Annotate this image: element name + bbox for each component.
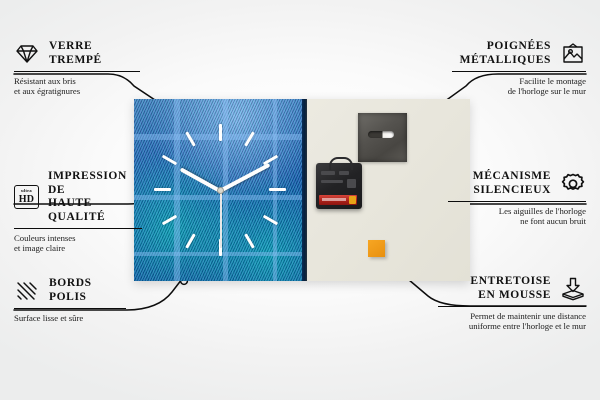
divider <box>448 201 586 202</box>
hour-tick <box>154 188 171 191</box>
callout-desc: Permet de maintenir une distance uniform… <box>438 311 586 332</box>
callout-title: ENTRETOISE EN MOUSSE <box>470 275 551 302</box>
callout-title: MÉCANISME SILENCIEUX <box>473 170 551 197</box>
callout-verre-trempe: VERRE TREMPÉ Résistant aux bris et aux é… <box>14 40 140 97</box>
metal-hanger-plate <box>358 113 407 162</box>
callout-desc: Couleurs intenses et image claire <box>14 233 142 254</box>
callout-bords-polis: BORDS POLIS Surface lisse et sûre <box>14 277 126 323</box>
callout-impression-haute-qualite: ultra HD IMPRESSION DE HAUTE QUALITÉ Cou… <box>14 170 142 254</box>
callout-title: VERRE TREMPÉ <box>49 40 102 67</box>
callout-title: IMPRESSION DE HAUTE QUALITÉ <box>48 170 142 224</box>
hour-tick <box>244 233 255 248</box>
callout-desc: Résistant aux bris et aux égratignures <box>14 76 140 97</box>
quartz-movement <box>316 163 362 209</box>
battery-terminal <box>349 196 356 204</box>
movement-detail <box>321 171 335 175</box>
hanger-slot <box>368 131 394 138</box>
clock-back-panel <box>307 99 470 281</box>
hand-cap <box>217 187 224 194</box>
hour-tick <box>269 188 286 191</box>
callout-title: BORDS POLIS <box>49 277 92 304</box>
clock-face <box>134 99 306 281</box>
hour-tick <box>219 124 222 141</box>
movement-hanger-loop <box>329 157 353 170</box>
divider <box>452 71 586 72</box>
arrow-down-pad-icon <box>560 277 586 301</box>
diamond-icon <box>14 43 40 65</box>
hour-tick <box>185 233 196 248</box>
callout-entretoise-en-mousse: ENTRETOISE EN MOUSSE Permet de maintenir… <box>438 275 586 332</box>
callout-desc: Facilite le montage de l'horloge sur le … <box>452 76 586 97</box>
callout-mecanisme-silencieux: MÉCANISME SILENCIEUX Les aiguilles de l'… <box>448 170 586 227</box>
divider <box>14 71 140 72</box>
callout-title: POIGNÉES MÉTALLIQUES <box>460 40 551 67</box>
second-hand <box>220 190 222 248</box>
movement-detail <box>339 171 349 175</box>
polished-edges-icon <box>14 280 40 302</box>
movement-detail <box>347 179 356 188</box>
foam-spacer <box>368 240 385 257</box>
picture-frame-hanger-icon <box>560 43 586 65</box>
movement-detail <box>321 180 343 183</box>
divider <box>14 228 142 229</box>
callout-desc: Surface lisse et sûre <box>14 313 126 324</box>
ultra-hd-badge-icon: ultra HD <box>14 185 39 209</box>
battery <box>319 195 357 205</box>
product-photo <box>134 99 470 281</box>
hour-hand <box>180 167 221 192</box>
ultra-hd-main-label: HD <box>19 195 34 205</box>
infographic-canvas: VERRE TREMPÉ Résistant aux bris et aux é… <box>0 0 600 400</box>
gear-icon <box>560 172 586 196</box>
callout-poignees-metalliques: POIGNÉES MÉTALLIQUES Facilite le montage… <box>452 40 586 97</box>
divider <box>14 308 126 309</box>
divider <box>438 306 586 307</box>
callout-desc: Les aiguilles de l'horloge ne font aucun… <box>448 206 586 227</box>
battery-label <box>322 198 346 201</box>
